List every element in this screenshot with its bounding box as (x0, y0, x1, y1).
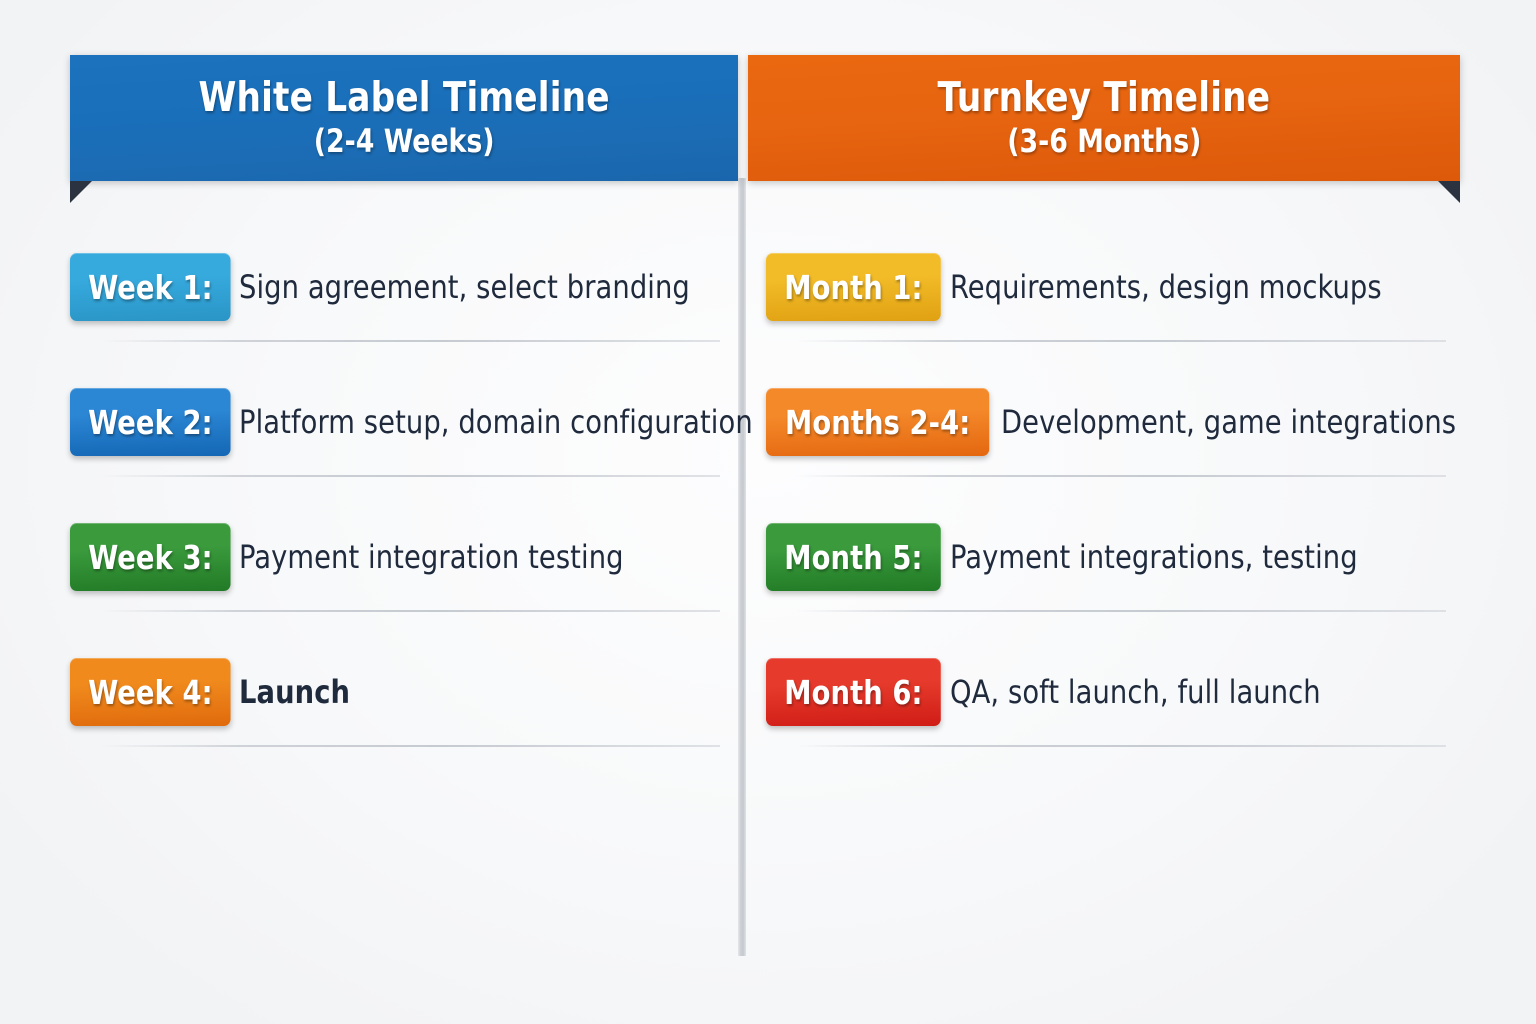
row-separator (100, 475, 720, 477)
row-separator (796, 340, 1446, 342)
timeline-row-text: Development, game integrations (1001, 403, 1456, 441)
timeline-badge-label: Months 2-4: (785, 403, 970, 442)
row-separator (100, 745, 720, 747)
timeline-row-text: Launch (239, 673, 350, 711)
row-separator (796, 475, 1446, 477)
timeline-badge: Week 4: (70, 658, 231, 726)
timeline-row[interactable]: Week 4: Launch (70, 637, 738, 772)
timeline-badge: Month 1: (766, 253, 941, 321)
row-separator (100, 340, 720, 342)
timeline-row-text: Payment integration testing (239, 538, 624, 576)
white-label-row-list: Week 1: Sign agreement, select branding … (70, 232, 738, 772)
timeline-badge-label: Week 2: (88, 403, 213, 442)
timeline-badge: Month 5: (766, 523, 941, 591)
timeline-row[interactable]: Months 2-4: Development, game integratio… (766, 367, 1466, 502)
timeline-row[interactable]: Month 1: Requirements, design mockups (766, 232, 1466, 367)
timeline-badge: Week 3: (70, 523, 231, 591)
timeline-row[interactable]: Week 3: Payment integration testing (70, 502, 738, 637)
timeline-badge-label: Month 5: (784, 538, 922, 577)
timeline-row[interactable]: Month 6: QA, soft launch, full launch (766, 637, 1466, 772)
timeline-row[interactable]: Month 5: Payment integrations, testing (766, 502, 1466, 637)
timeline-row-text: Sign agreement, select branding (239, 268, 690, 306)
timeline-row-text: Platform setup, domain configuration (239, 403, 753, 441)
timeline-badge: Week 1: (70, 253, 231, 321)
timeline-row-text: Payment integrations, testing (950, 538, 1358, 576)
white-label-column: Week 1: Sign agreement, select branding … (70, 0, 738, 1024)
turnkey-row-list: Month 1: Requirements, design mockups Mo… (766, 232, 1466, 772)
timeline-badge-label: Month 1: (784, 268, 922, 307)
row-separator (796, 610, 1446, 612)
timeline-badge-label: Week 3: (88, 538, 213, 577)
row-separator (100, 610, 720, 612)
timeline-row-text: QA, soft launch, full launch (950, 673, 1321, 711)
timeline-badge: Month 6: (766, 658, 941, 726)
timeline-badge-label: Week 1: (88, 268, 213, 307)
column-divider (738, 178, 746, 956)
timeline-badge: Week 2: (70, 388, 231, 456)
timeline-row[interactable]: Week 2: Platform setup, domain configura… (70, 367, 738, 502)
timeline-badge-label: Week 4: (88, 673, 213, 712)
timeline-badge-label: Month 6: (784, 673, 922, 712)
timeline-comparison-canvas: White Label Timeline (2-4 Weeks) Turnkey… (0, 0, 1536, 1024)
timeline-row[interactable]: Week 1: Sign agreement, select branding (70, 232, 738, 367)
row-separator (796, 745, 1446, 747)
timeline-row-text: Requirements, design mockups (950, 268, 1382, 306)
turnkey-column: Month 1: Requirements, design mockups Mo… (766, 0, 1466, 1024)
timeline-badge: Months 2-4: (766, 388, 989, 456)
